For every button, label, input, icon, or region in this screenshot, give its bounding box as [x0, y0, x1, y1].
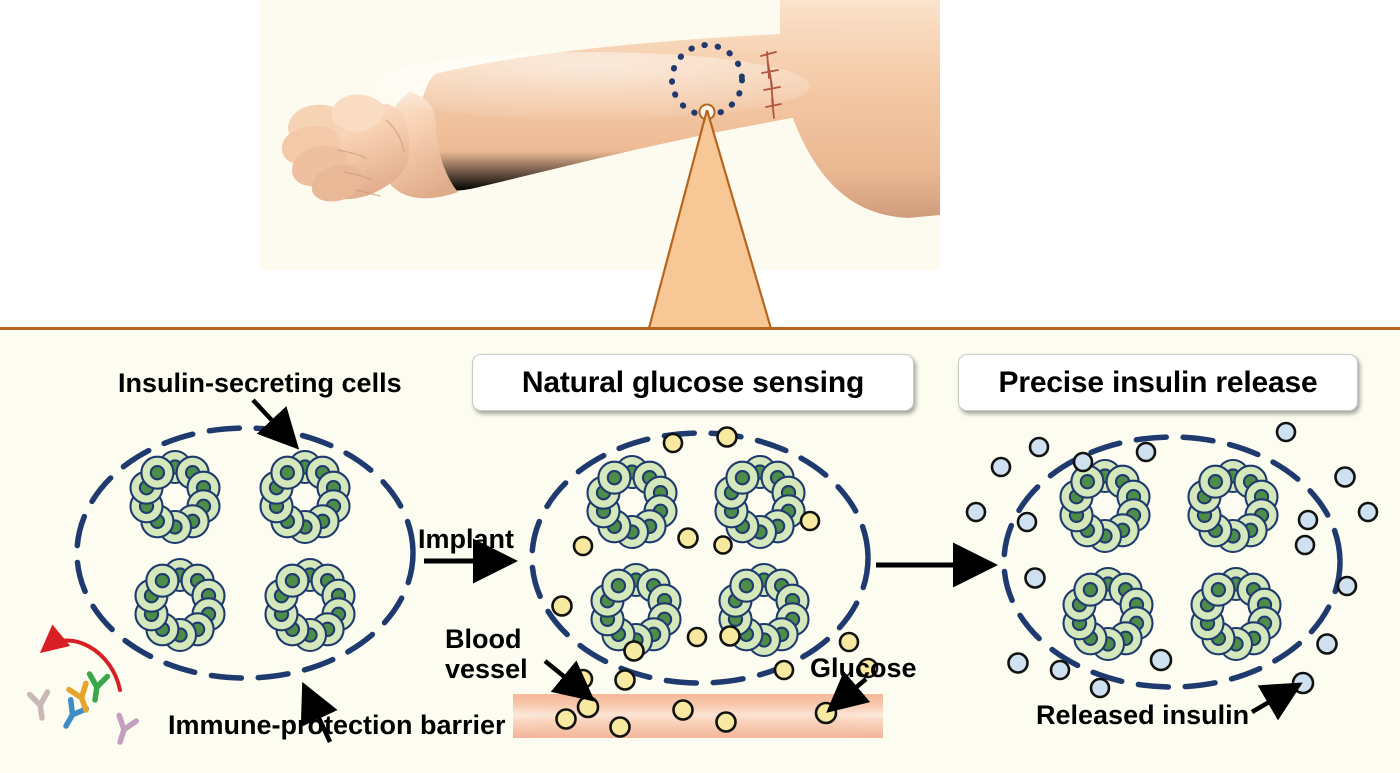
label-immune-protection-barrier: Immune-protection barrier: [168, 710, 506, 741]
forearm-illustration: [260, 0, 940, 270]
title-natural-glucose-sensing: Natural glucose sensing: [472, 354, 914, 411]
title-precise-insulin-release: Precise insulin release: [958, 354, 1358, 411]
forearm-photo-panel: [260, 0, 940, 270]
label-glucose: Glucose: [810, 653, 917, 684]
label-insulin-secreting-cells: Insulin-secreting cells: [118, 368, 402, 399]
label-blood-vessel-line2: vessel: [445, 654, 528, 684]
label-blood-vessel-line1: Blood: [445, 624, 528, 654]
label-implant: Implant: [418, 524, 514, 555]
figure-canvas: Natural glucose sensing Precise insulin …: [0, 0, 1400, 773]
label-blood-vessel: Blood vessel: [445, 624, 528, 684]
label-released-insulin: Released insulin: [1036, 700, 1249, 731]
zoom-cone: [630, 110, 790, 335]
